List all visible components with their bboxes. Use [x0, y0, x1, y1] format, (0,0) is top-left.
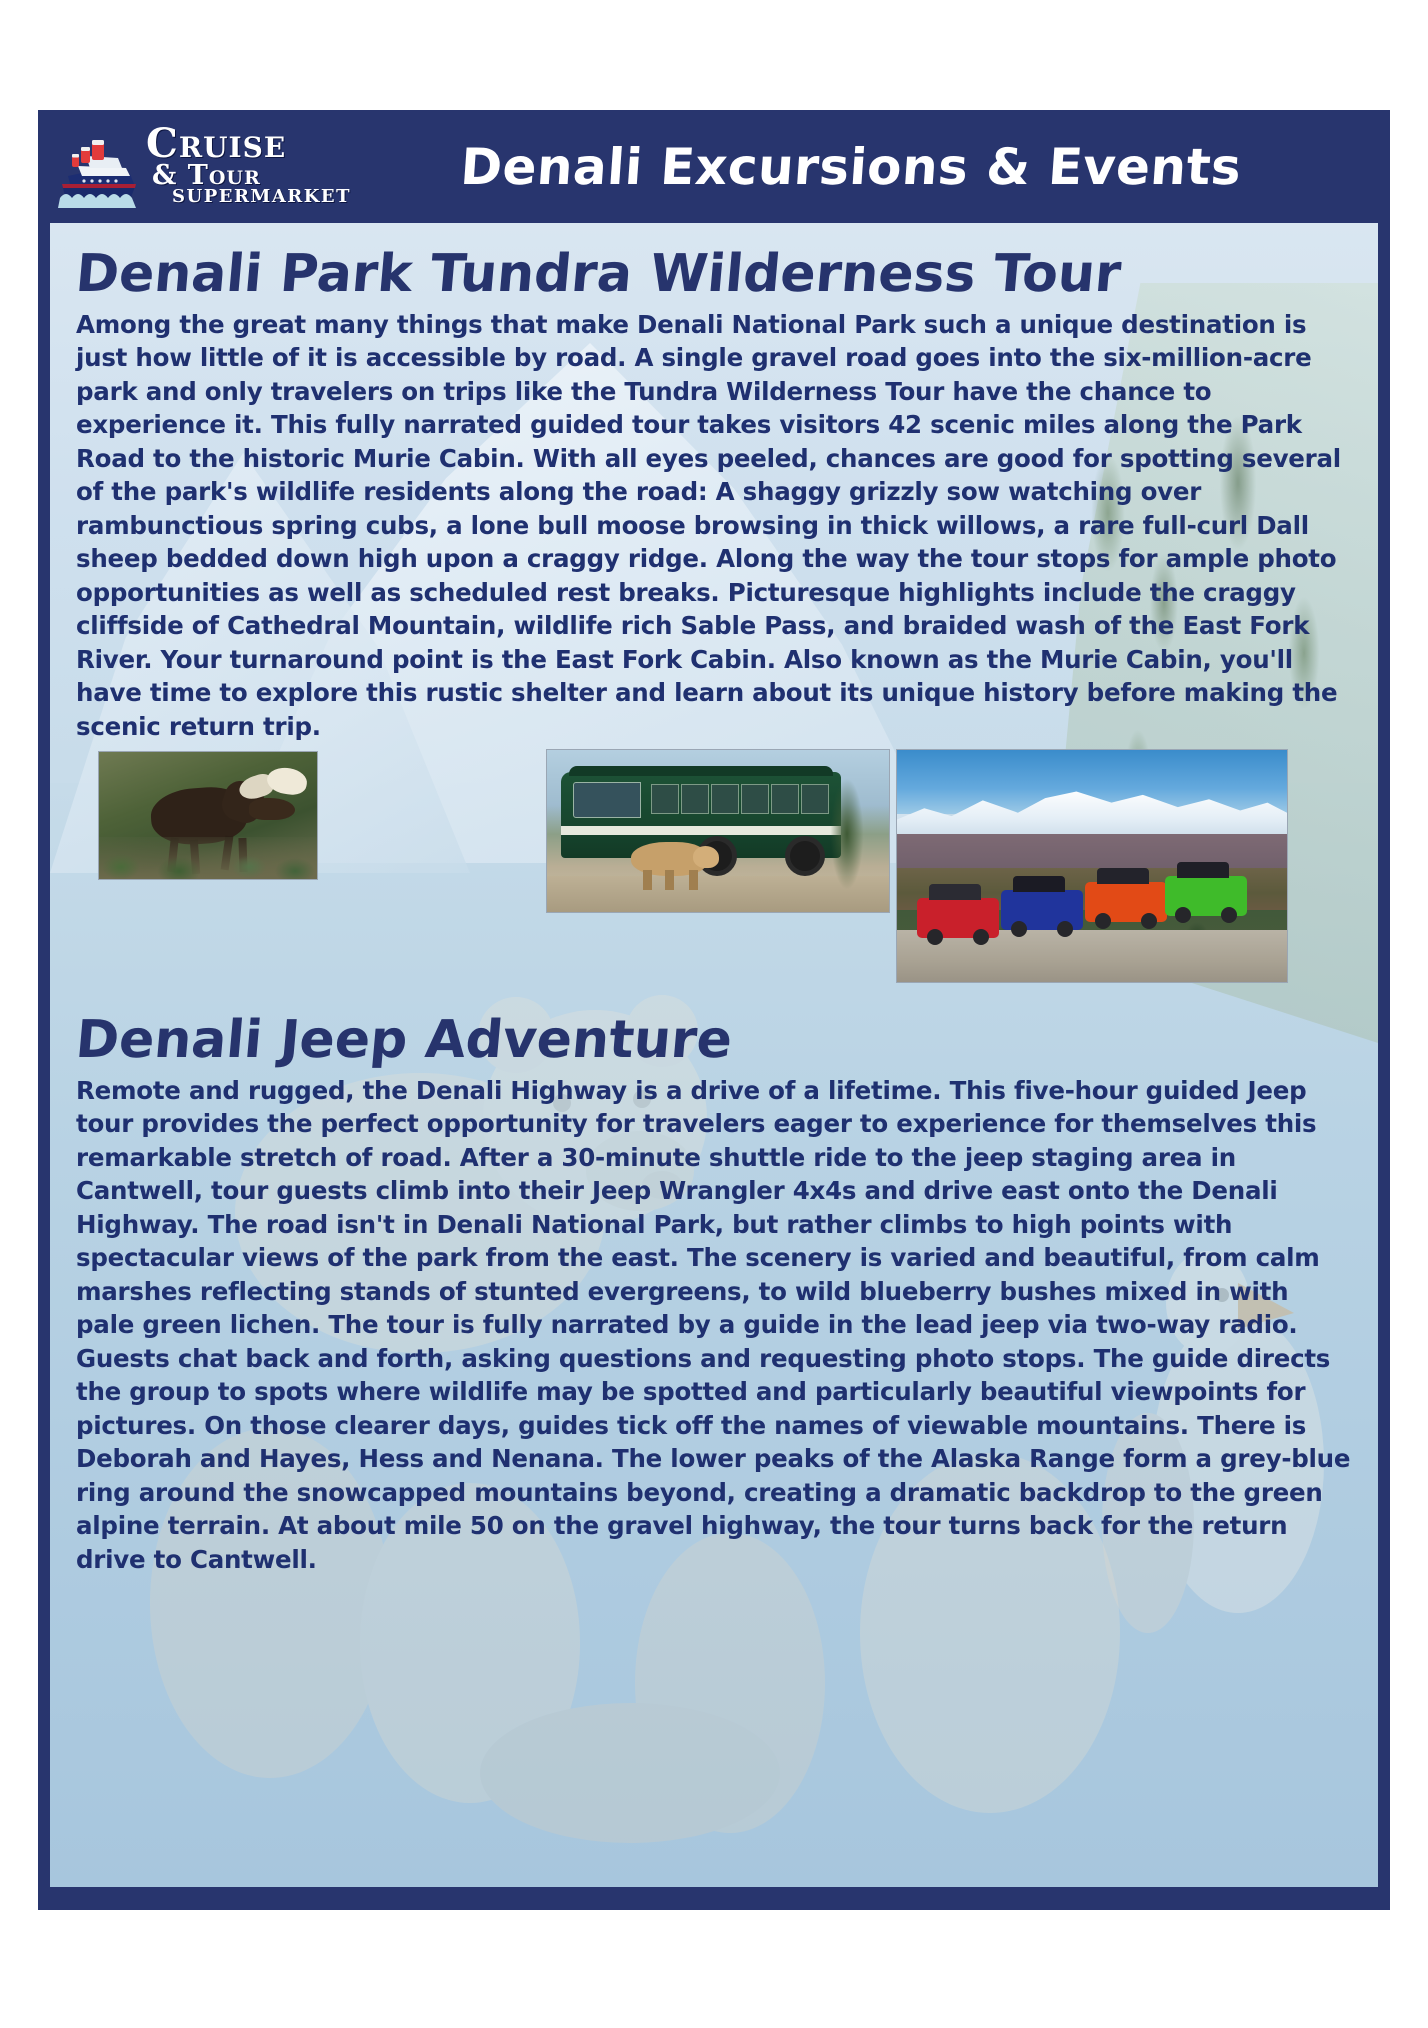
- section-heading-jeep-adventure: Denali Jeep Adventure: [74, 1013, 1355, 1068]
- footer-band: [38, 1898, 1390, 1910]
- page-title: Denali Excursions & Events: [336, 138, 1390, 196]
- company-logo[interactable]: Cruise & Tour SUPERMARKET: [38, 115, 338, 219]
- jeep-convoy-photo: [896, 749, 1288, 983]
- logo-line-supermarket: SUPERMARKET: [172, 188, 351, 206]
- flyer-page: Cruise & Tour SUPERMARKET Denali Excursi…: [38, 110, 1390, 1910]
- tour-bus-bear-photo: [546, 749, 890, 913]
- section-body-jeep-adventure: Remote and rugged, the Denali Highway is…: [76, 1074, 1352, 1577]
- cruise-ship-icon: [56, 122, 142, 212]
- bull-moose-photo: [98, 751, 318, 880]
- section-body-tundra-tour: Among the great many things that make De…: [76, 308, 1352, 744]
- page-header: Cruise & Tour SUPERMARKET Denali Excursi…: [38, 110, 1390, 223]
- logo-line-tour: & Tour: [152, 162, 351, 189]
- section-heading-tundra-tour: Denali Park Tundra Wilderness Tour: [74, 247, 1355, 302]
- content-panel: Denali Park Tundra Wilderness Tour Among…: [50, 223, 1378, 1887]
- logo-line-cruise: Cruise: [146, 124, 351, 164]
- content-body: Denali Park Tundra Wilderness Tour Among…: [50, 223, 1378, 1576]
- photo-row: [76, 749, 1352, 1009]
